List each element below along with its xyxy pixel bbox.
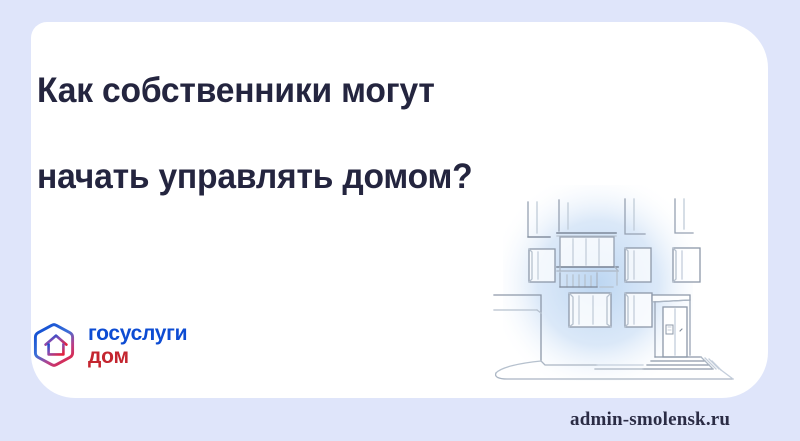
gosuslugi-dom-logo[interactable]: госуслуги дом bbox=[33, 322, 187, 368]
page-canvas: Как собственники могут начать управлять … bbox=[0, 0, 800, 441]
logo-wordmark: госуслуги дом bbox=[88, 323, 187, 368]
page-title-line-1: Как собственники могут bbox=[37, 69, 575, 112]
gosuslugi-dom-house-hexagon-icon bbox=[33, 322, 79, 368]
logo-word-dom: дом bbox=[88, 345, 187, 368]
apartment-building-illustration bbox=[485, 185, 750, 390]
logo-word-gosuslugi: госуслуги bbox=[88, 323, 187, 345]
watermark: admin-smolensk.ru bbox=[570, 409, 730, 431]
